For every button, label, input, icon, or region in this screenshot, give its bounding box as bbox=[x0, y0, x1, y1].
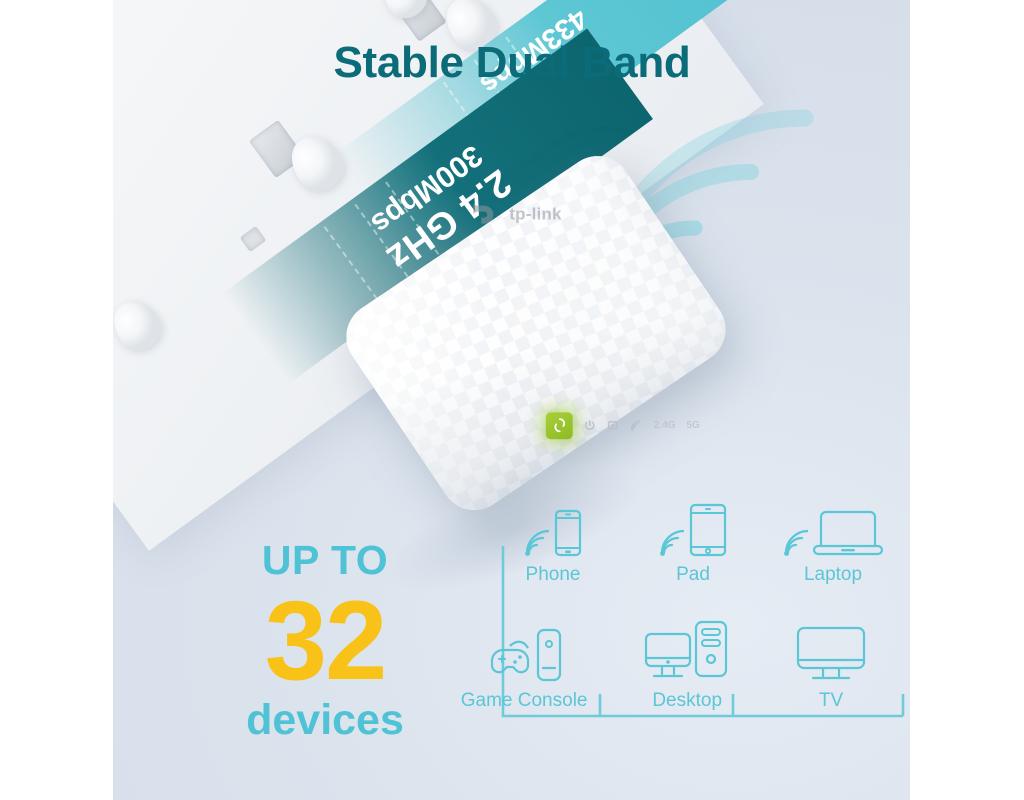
device-label-laptop: Laptop bbox=[804, 564, 862, 586]
device-row-2: Game Console bbox=[433, 620, 903, 712]
led-label-24g: 2.4G bbox=[654, 420, 676, 431]
wifi-arc-icon bbox=[658, 527, 684, 557]
capacity-count: 32 bbox=[190, 585, 460, 697]
led-indicator-strip: 2.4G 5G bbox=[546, 408, 736, 442]
power-icon bbox=[584, 419, 596, 431]
device-tv: TV bbox=[759, 620, 903, 712]
device-label-desktop: Desktop bbox=[652, 690, 722, 712]
device-label-game-console: Game Console bbox=[461, 690, 588, 712]
supported-devices-grid: Phone bbox=[483, 495, 903, 712]
device-label-pad: Pad bbox=[676, 564, 710, 586]
device-game-console: Game Console bbox=[433, 620, 615, 712]
capacity-callout: UP TO 32 devices bbox=[190, 540, 460, 742]
tablet-icon bbox=[688, 503, 728, 557]
device-phone: Phone bbox=[483, 495, 623, 586]
desktop-icon-group bbox=[644, 620, 730, 686]
phone-icon-group bbox=[523, 495, 583, 557]
device-row-1: Phone bbox=[483, 495, 903, 586]
laptop-icon bbox=[812, 507, 884, 557]
laptop-icon-group bbox=[782, 495, 884, 557]
wifi-arc-icon bbox=[523, 527, 549, 557]
device-laptop: Laptop bbox=[763, 495, 903, 586]
page-title: Stable Dual Band bbox=[0, 38, 1024, 88]
capacity-prefix: UP TO bbox=[190, 540, 460, 581]
phone-icon bbox=[553, 509, 583, 557]
product-marketing-image: 5 GHz 433Mbps 2.4 GHz 300Mbps bbox=[0, 0, 1024, 800]
photo-plate: 5 GHz 433Mbps 2.4 GHz 300Mbps bbox=[113, 0, 910, 800]
tablet-icon-group bbox=[658, 495, 728, 557]
led-label-5g: 5G bbox=[686, 420, 699, 431]
wifi-arc-icon bbox=[782, 527, 808, 557]
device-label-tv: TV bbox=[819, 690, 843, 712]
tp-link-mark-icon bbox=[472, 202, 502, 228]
tv-icon bbox=[795, 624, 867, 686]
game-console-icon bbox=[478, 624, 570, 686]
desktop-icon bbox=[644, 620, 730, 686]
tv-icon-group bbox=[795, 620, 867, 686]
device-desktop: Desktop bbox=[615, 620, 759, 712]
device-label-phone: Phone bbox=[526, 564, 581, 586]
tp-link-logo: tp-link bbox=[472, 186, 604, 244]
re-icon bbox=[607, 419, 619, 431]
wps-button[interactable] bbox=[546, 412, 573, 439]
capacity-unit: devices bbox=[190, 699, 460, 742]
wifi-icon bbox=[630, 419, 643, 432]
device-pad: Pad bbox=[623, 495, 763, 586]
game-console-icon-group bbox=[478, 620, 570, 686]
tp-link-wordmark: tp-link bbox=[509, 205, 561, 225]
